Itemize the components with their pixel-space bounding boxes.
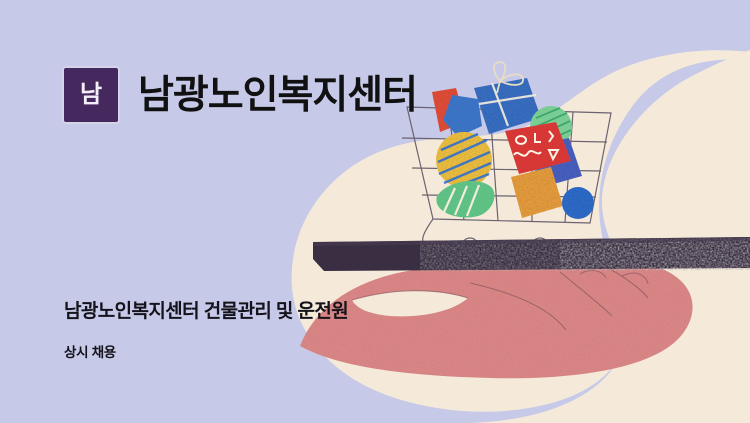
cart-item-yellow-striped-circle [436, 132, 492, 188]
organization-title: 남광노인복지센터 [138, 76, 417, 115]
brand-badge: 남 [62, 66, 120, 124]
cart-item-blue-circle [562, 187, 594, 219]
job-headline: 남광노인복지센터 건물관리 및 운전원 [64, 296, 348, 323]
dark-bar [313, 236, 750, 272]
job-subline: 상시 채용 [64, 341, 116, 361]
brand-row: 남 남광노인복지센터 [62, 66, 417, 124]
poster-canvas: 남 남광노인복지센터 남광노인복지센터 건물관리 및 운전원 상시 채용 [0, 0, 750, 423]
